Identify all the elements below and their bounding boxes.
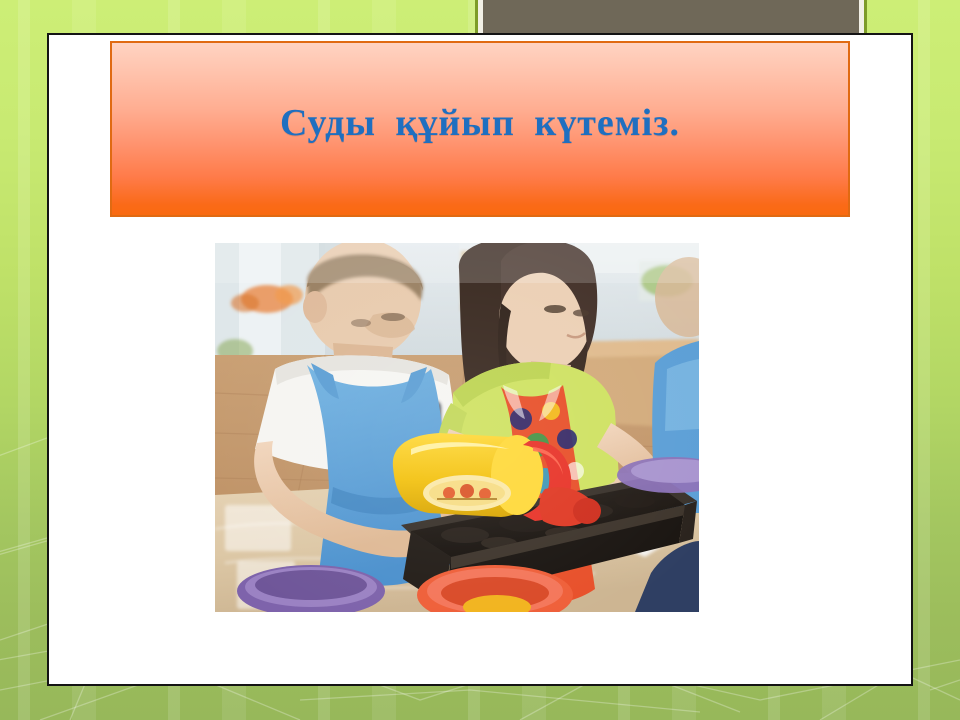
- slide-photo: Baby: [215, 243, 699, 612]
- photo-illustration: Baby: [215, 243, 699, 612]
- title-banner: Суды құйып күтеміз.: [110, 41, 850, 217]
- slide-title: Суды құйып күтеміз.: [280, 101, 680, 145]
- slide-canvas: Суды құйып күтеміз.: [0, 0, 960, 720]
